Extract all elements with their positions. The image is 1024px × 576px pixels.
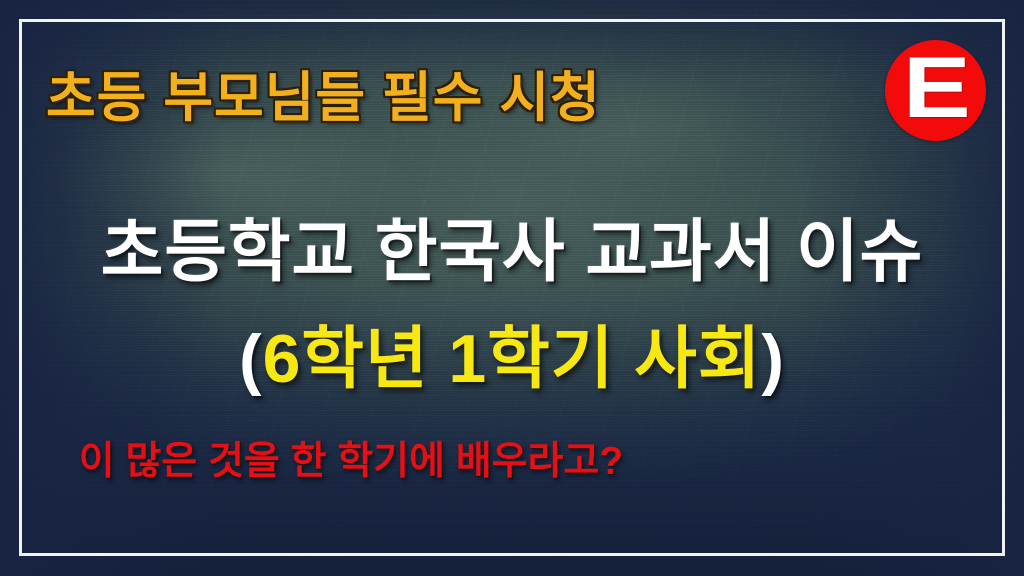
title-open-paren: ( — [239, 321, 263, 397]
text-layer: 초등 부모님들 필수 시청 초등학교 한국사 교과서 이슈 (6학년 1학기 사… — [0, 0, 1024, 576]
thumbnail-canvas: E 초등 부모님들 필수 시청 초등학교 한국사 교과서 이슈 (6학년 1학기… — [0, 0, 1024, 576]
title-line-1: 초등학교 한국사 교과서 이슈 — [0, 196, 1024, 295]
title-close-paren: ) — [761, 321, 785, 397]
headline-text: 초등 부모님들 필수 시청 — [46, 53, 601, 132]
title-line-2: (6학년 1학기 사회) — [0, 303, 1024, 402]
title-highlight-grade-term: 6학년 1학기 사회 — [263, 321, 762, 397]
subline-question-text: 이 많은 것을 한 학기에 배우라고? — [0, 430, 1024, 486]
